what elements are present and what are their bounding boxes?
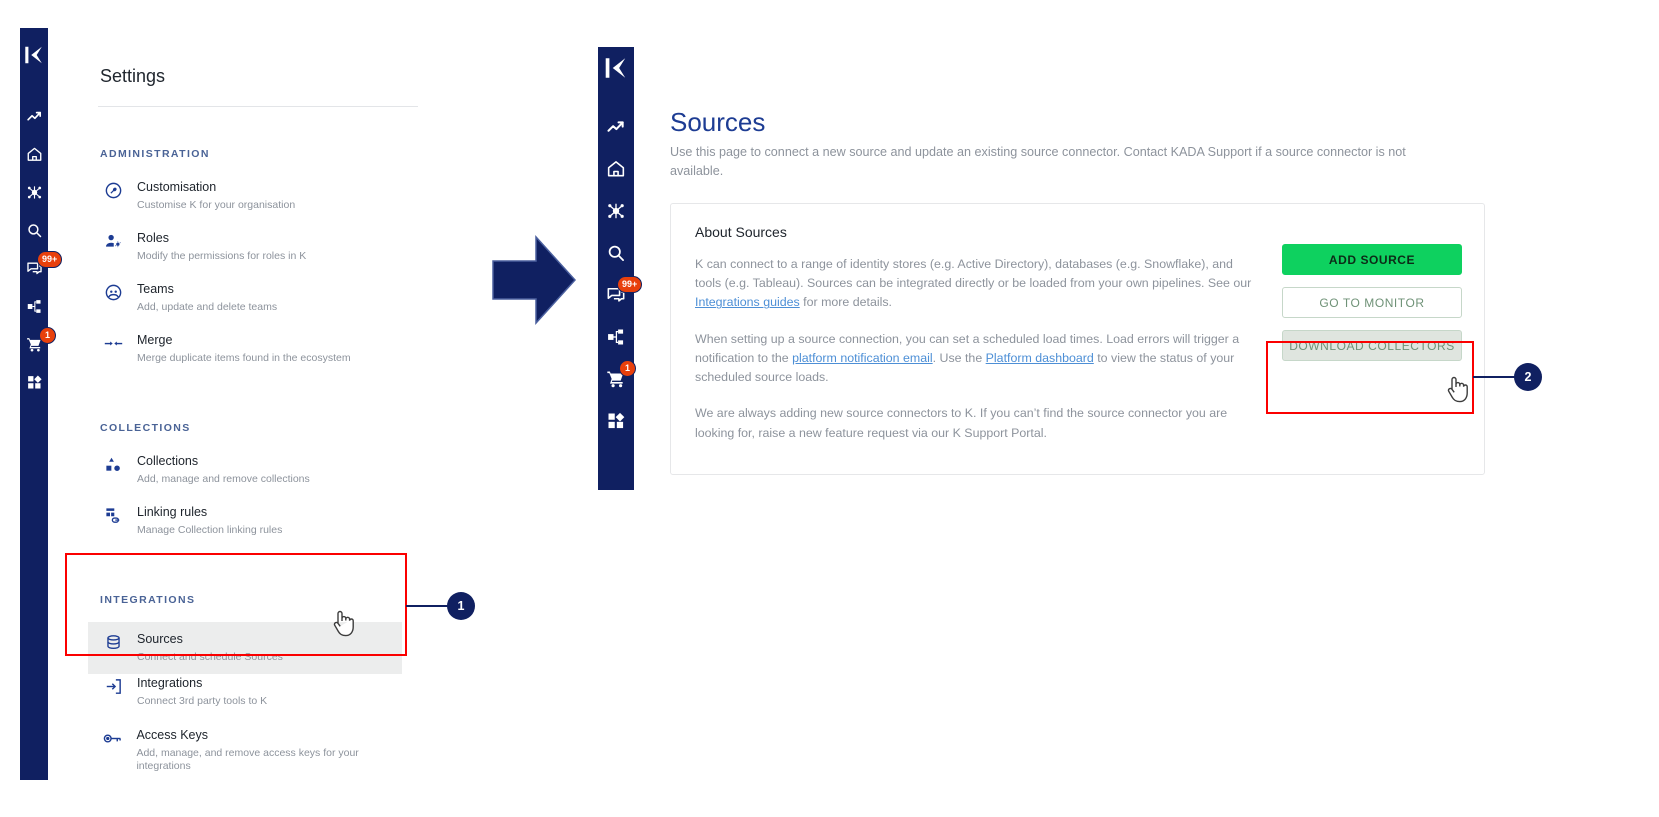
settings-item-title: Teams [137,282,277,298]
k-logo[interactable] [23,44,45,71]
right-nav-rail: 99+ 1 [598,47,634,490]
go-to-monitor-button[interactable]: GO TO MONITOR [1282,287,1462,318]
sitemap-icon [26,298,43,315]
search-icon [26,222,43,239]
teams-icon [100,282,126,314]
wrench-circle-icon [100,180,126,212]
settings-item-title: Roles [137,231,306,247]
settings-item-title: Linking rules [137,505,282,521]
settings-item-title: Integrations [137,676,267,692]
about-paragraph-2: When setting up a source connection, you… [695,330,1255,388]
person-gear-icon [100,231,126,263]
apps-dashboard-icon [606,411,626,431]
integrations-guides-link[interactable]: Integrations guides [695,295,800,309]
database-icon [100,632,126,674]
mouse-cursor-left [330,607,356,644]
settings-item-title: Customisation [137,180,295,196]
sidebar-item-search[interactable] [601,238,631,268]
comment-badge: 99+ [37,251,62,268]
settings-item-subtitle: Customise K for your organisation [137,199,295,212]
sidebar-item-hub[interactable] [601,196,631,226]
sources-page-subtitle: Use this page to connect a new source an… [670,143,1460,181]
sidebar-item-hub[interactable] [21,179,47,205]
add-source-button[interactable]: ADD SOURCE [1282,244,1462,275]
settings-item-subtitle: Connect 3rd party tools to K [137,695,267,708]
sidebar-item-comments[interactable]: 99+ [21,255,47,281]
callout-badge-1: 1 [447,592,475,620]
settings-item-integrations[interactable]: Integrations Connect 3rd party tools to … [100,676,410,708]
linking-rules-icon [100,505,126,537]
about-sources-title: About Sources [695,224,787,240]
trending-up-icon [26,108,43,125]
settings-item-title: Collections [137,454,310,470]
about-sources-card: About Sources K can connect to a range o… [670,203,1485,475]
screenshot-root: Settings ADMINISTRATION Customisation Cu… [0,0,1659,817]
settings-item-customisation[interactable]: Customisation Customise K for your organ… [100,180,410,212]
key-icon [100,728,125,773]
download-collectors-button[interactable]: DOWNLOAD COLLECTORS [1282,330,1462,361]
home-icon [26,146,43,163]
settings-panel: Settings ADMINISTRATION Customisation Cu… [20,28,420,780]
settings-item-subtitle: Connect and schedule Sources [137,651,283,664]
callout-line-2 [1473,376,1515,378]
sidebar-item-cart[interactable]: 1 [21,331,47,357]
platform-dashboard-link[interactable]: Platform dashboard [986,351,1094,365]
search-icon [606,243,626,263]
transition-arrow-icon [489,231,579,334]
sidebar-item-trending-up[interactable] [601,112,631,142]
settings-item-merge[interactable]: Merge Merge duplicate items found in the… [100,333,410,365]
group-heading-administration: ADMINISTRATION [100,148,210,160]
about-paragraph-1: K can connect to a range of identity sto… [695,255,1255,313]
home-icon [606,159,626,179]
card-action-buttons: ADD SOURCE GO TO MONITOR DOWNLOAD COLLEC… [1282,244,1462,373]
settings-item-title: Merge [137,333,351,349]
settings-item-title: Sources [137,632,283,648]
settings-item-subtitle: Add, update and delete teams [137,301,277,314]
group-heading-integrations: INTEGRATIONS [100,594,195,606]
merge-arrows-icon [100,333,126,365]
mouse-cursor-right [1444,373,1470,410]
paragraph-1-text-b: for more details. [800,295,892,309]
sidebar-item-trending-up[interactable] [21,103,47,129]
sidebar-item-home[interactable] [21,141,47,167]
sources-page-title: Sources [670,107,765,138]
settings-item-subtitle: Add, manage and remove collections [137,473,310,486]
group-heading-collections: COLLECTIONS [100,422,191,434]
paragraph-2-text-b: . Use the [933,351,986,365]
sidebar-item-comments[interactable]: 99+ [601,280,631,310]
settings-item-subtitle: Merge duplicate items found in the ecosy… [137,352,351,365]
sidebar-item-sitemap[interactable] [601,322,631,352]
callout-line-1 [406,605,448,607]
sidebar-item-home[interactable] [601,154,631,184]
settings-item-subtitle: Manage Collection linking rules [137,524,282,537]
hub-network-icon [606,201,626,221]
integration-arrow-icon [100,676,126,708]
sidebar-item-search[interactable] [21,217,47,243]
cart-badge: 1 [619,360,636,377]
left-nav-rail: 99+ 1 [20,28,48,780]
title-divider [98,106,418,107]
about-sources-body: K can connect to a range of identity sto… [695,255,1255,460]
settings-item-linking-rules[interactable]: Linking rules Manage Collection linking … [100,505,410,537]
settings-item-teams[interactable]: Teams Add, update and delete teams [100,282,410,314]
settings-item-title: Access Keys [136,728,410,744]
sidebar-item-cart[interactable]: 1 [601,364,631,394]
platform-notification-email-link[interactable]: platform notification email [792,351,933,365]
settings-item-subtitle: Add, manage, and remove access keys for … [136,747,410,773]
settings-item-subtitle: Modify the permissions for roles in K [137,250,306,263]
sidebar-item-apps[interactable] [21,369,47,395]
sidebar-item-apps[interactable] [601,406,631,436]
comment-badge: 99+ [617,276,642,293]
settings-item-access-keys[interactable]: Access Keys Add, manage, and remove acce… [100,728,410,773]
sidebar-item-sitemap[interactable] [21,293,47,319]
apps-dashboard-icon [26,374,43,391]
hub-network-icon [26,184,43,201]
settings-item-roles[interactable]: Roles Modify the permissions for roles i… [100,231,410,263]
sitemap-icon [606,327,626,347]
page-title: Settings [100,66,165,87]
paragraph-1-text-a: K can connect to a range of identity sto… [695,257,1251,290]
about-paragraph-3: We are always adding new source connecto… [695,404,1255,442]
cart-badge: 1 [39,327,56,344]
callout-badge-2: 2 [1514,363,1542,391]
shapes-icon [100,454,126,486]
trending-up-icon [606,117,626,137]
settings-item-collections[interactable]: Collections Add, manage and remove colle… [100,454,410,486]
k-logo[interactable] [603,55,629,86]
